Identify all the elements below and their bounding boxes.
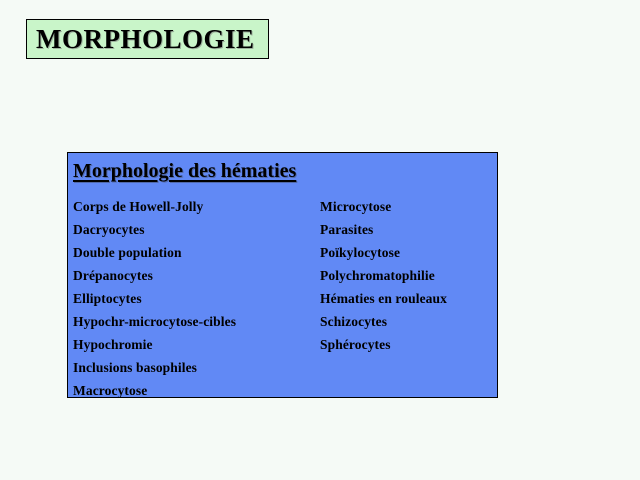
morphology-list-left: Corps de Howell-Jolly Dacryocytes Double… (73, 195, 323, 402)
list-item: Dacryocytes (73, 218, 323, 241)
list-item: Polychromatophilie (320, 264, 495, 287)
list-item: Hématies en rouleaux (320, 287, 495, 310)
list-item: Double population (73, 241, 323, 264)
list-item: Hypochr-microcytose-cibles (73, 310, 323, 333)
list-item: Elliptocytes (73, 287, 323, 310)
list-item: Microcytose (320, 195, 495, 218)
list-item: Corps de Howell-Jolly (73, 195, 323, 218)
list-item: Parasites (320, 218, 495, 241)
list-item: Macrocytose (73, 379, 323, 402)
page-title: MORPHOLOGIE (27, 26, 255, 53)
list-item: Schizocytes (320, 310, 495, 333)
list-item: Inclusions basophiles (73, 356, 323, 379)
list-item: Hypochromie (73, 333, 323, 356)
list-item: Drépanocytes (73, 264, 323, 287)
slide-title-box: MORPHOLOGIE (26, 19, 269, 59)
list-item: Sphérocytes (320, 333, 495, 356)
list-item: Poïkylocytose (320, 241, 495, 264)
morphology-list-right: Microcytose Parasites Poïkylocytose Poly… (320, 195, 495, 356)
content-panel: Morphologie des hématies Corps de Howell… (67, 152, 498, 398)
panel-heading: Morphologie des hématies (73, 160, 296, 183)
